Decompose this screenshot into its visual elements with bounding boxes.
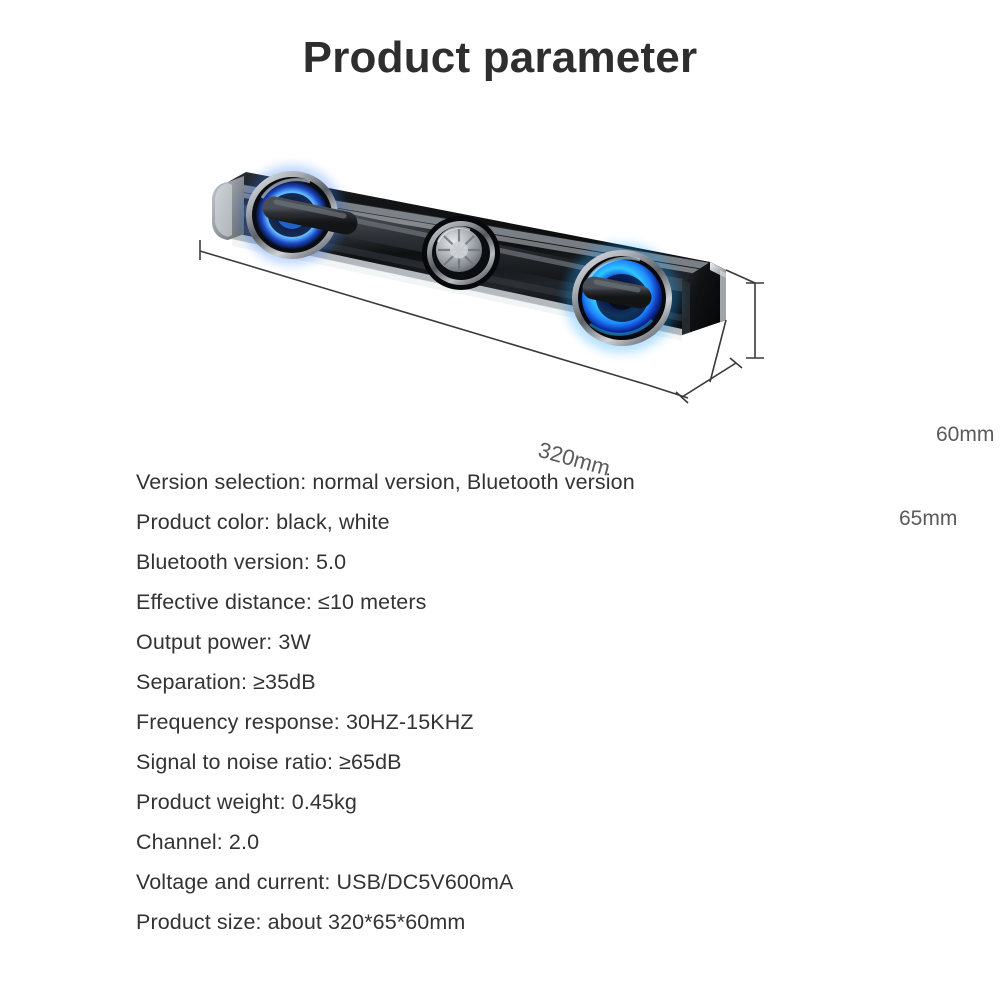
spec-line: Voltage and current: USB/DC5V600mA xyxy=(136,862,896,902)
spec-line: Product weight: 0.45kg xyxy=(136,782,896,822)
spec-line: Product color: black, white xyxy=(136,502,896,542)
spec-line: Version selection: normal version, Bluet… xyxy=(136,462,896,502)
spec-line: Separation: ≥35dB xyxy=(136,662,896,702)
dimension-label-depth: 65mm xyxy=(899,507,957,531)
dimension-leader-height xyxy=(726,270,755,283)
spec-line: Channel: 2.0 xyxy=(136,822,896,862)
spec-line: Frequency response: 30HZ-15KHZ xyxy=(136,702,896,742)
dimension-label-height: 60mm xyxy=(936,423,994,447)
specification-list: Version selection: normal version, Bluet… xyxy=(136,462,896,942)
right-speaker-driver xyxy=(564,243,680,353)
soundbar-product-image xyxy=(170,120,870,440)
spec-line: Signal to noise ratio: ≥65dB xyxy=(136,742,896,782)
spec-line: Output power: 3W xyxy=(136,622,896,662)
product-parameter-page: Product parameter xyxy=(0,0,1000,1000)
spec-line: Bluetooth version: 5.0 xyxy=(136,542,896,582)
product-illustration: 320mm 60mm 65mm xyxy=(170,120,870,440)
dimension-line-height xyxy=(746,283,764,358)
page-title: Product parameter xyxy=(0,32,1000,84)
spec-line: Product size: about 320*65*60mm xyxy=(136,902,896,942)
center-control-knob xyxy=(422,216,500,290)
dimension-line-depth xyxy=(676,358,742,403)
spec-line: Effective distance: ≤10 meters xyxy=(136,582,896,622)
